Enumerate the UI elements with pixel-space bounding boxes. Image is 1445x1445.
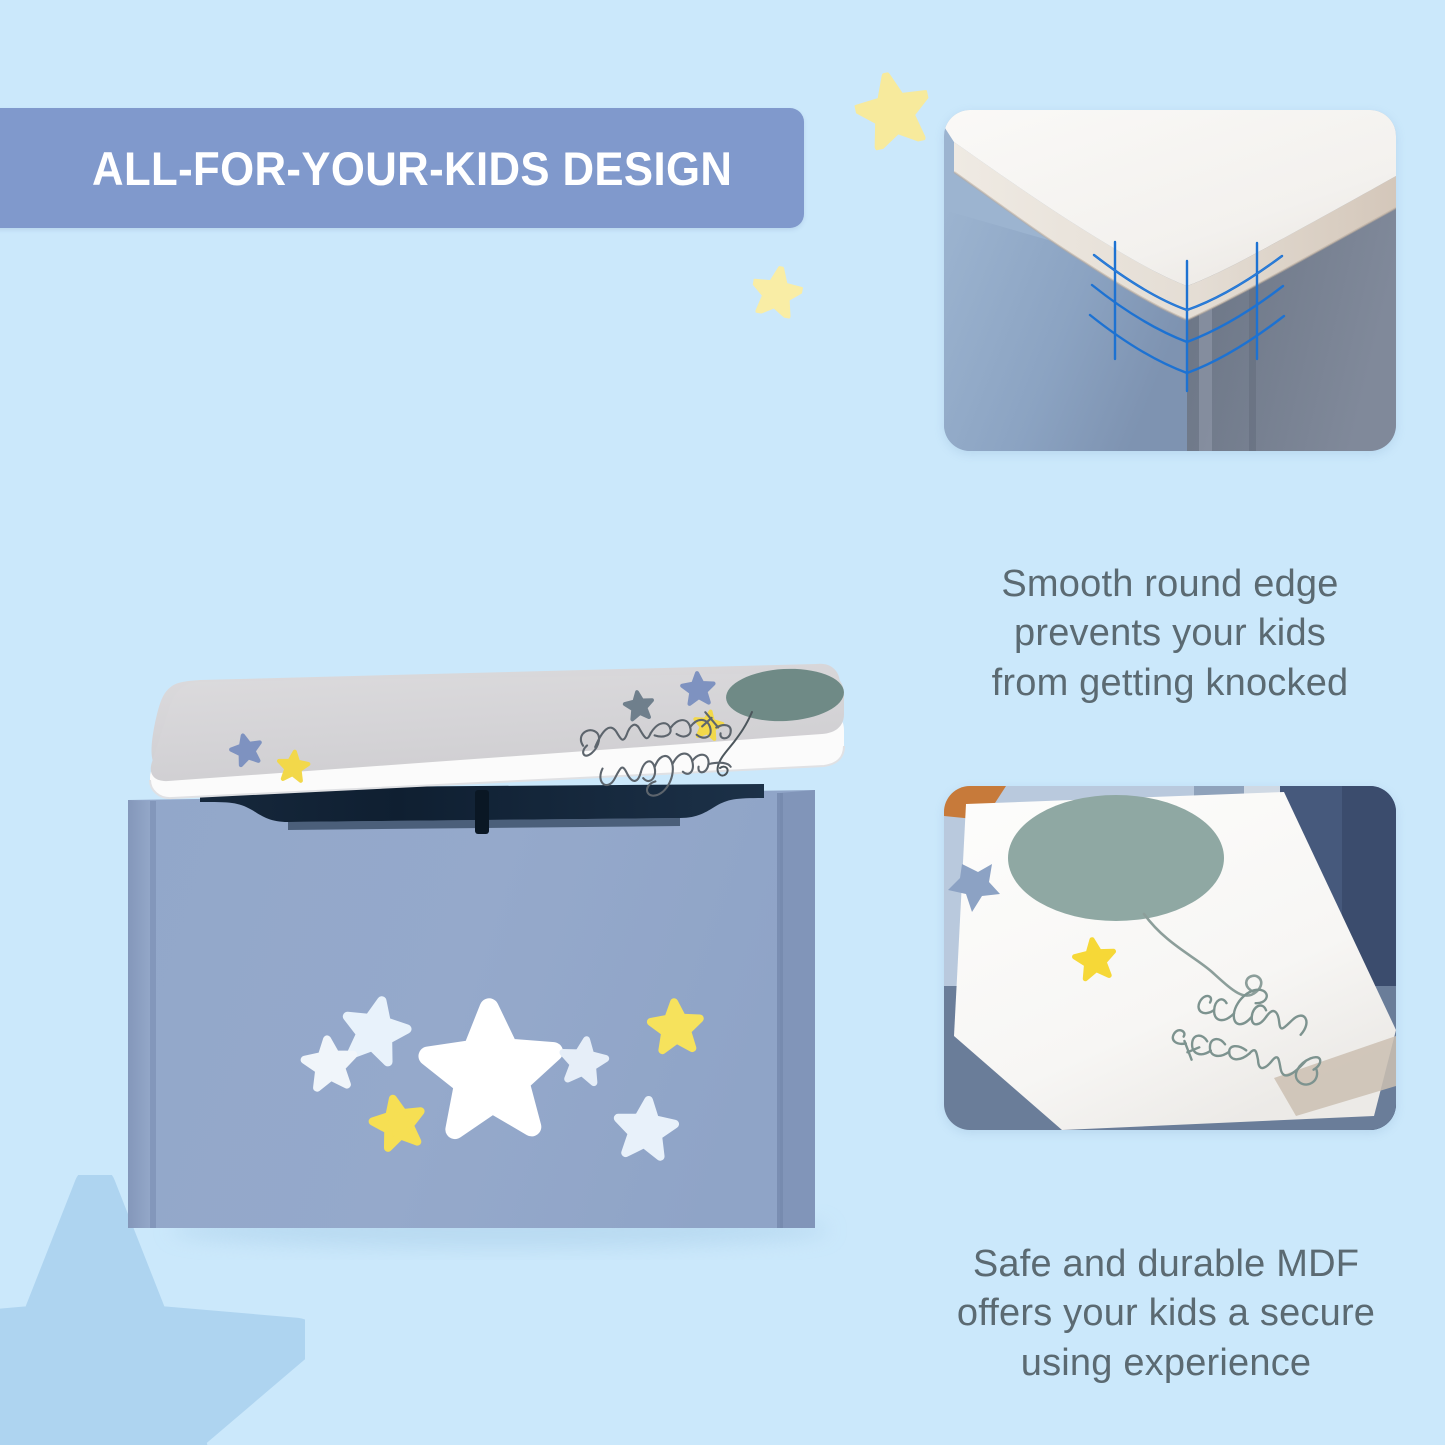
hinge-notch [475, 790, 489, 834]
caption-line: using experience [916, 1339, 1416, 1388]
floating-star-large-icon [849, 65, 937, 153]
floating-star-small-icon [748, 262, 806, 320]
detail-photo-rounded-edge [944, 110, 1396, 451]
balloon-icon [1008, 795, 1224, 921]
box-right-side [780, 790, 815, 1228]
caption-line: Smooth round edge [920, 560, 1420, 609]
caption-line: Safe and durable MDF [916, 1240, 1416, 1289]
caption-durable-mdf: Safe and durable MDF offers your kids a … [916, 1240, 1416, 1388]
detail-photo-durable-mdf [944, 786, 1396, 1130]
headline-banner: ALL-FOR-YOUR-KIDS DESIGN [0, 108, 804, 228]
caption-line: from getting knocked [920, 659, 1420, 708]
toy-box-illustration [80, 650, 870, 1260]
infographic-page: ALL-FOR-YOUR-KIDS DESIGN [0, 0, 1445, 1445]
product-photo-toy-box [80, 650, 870, 1260]
box-front-panel [128, 790, 815, 1228]
box-left-side [128, 800, 150, 1228]
caption-line: offers your kids a secure [916, 1289, 1416, 1338]
caption-line: prevents your kids [920, 609, 1420, 658]
rounded-edge-illustration [944, 110, 1396, 451]
sweet-hugs-illustration [944, 786, 1396, 1130]
page-title: ALL-FOR-YOUR-KIDS DESIGN [92, 141, 732, 196]
caption-rounded-edge: Smooth round edge prevents your kids fro… [920, 560, 1420, 708]
